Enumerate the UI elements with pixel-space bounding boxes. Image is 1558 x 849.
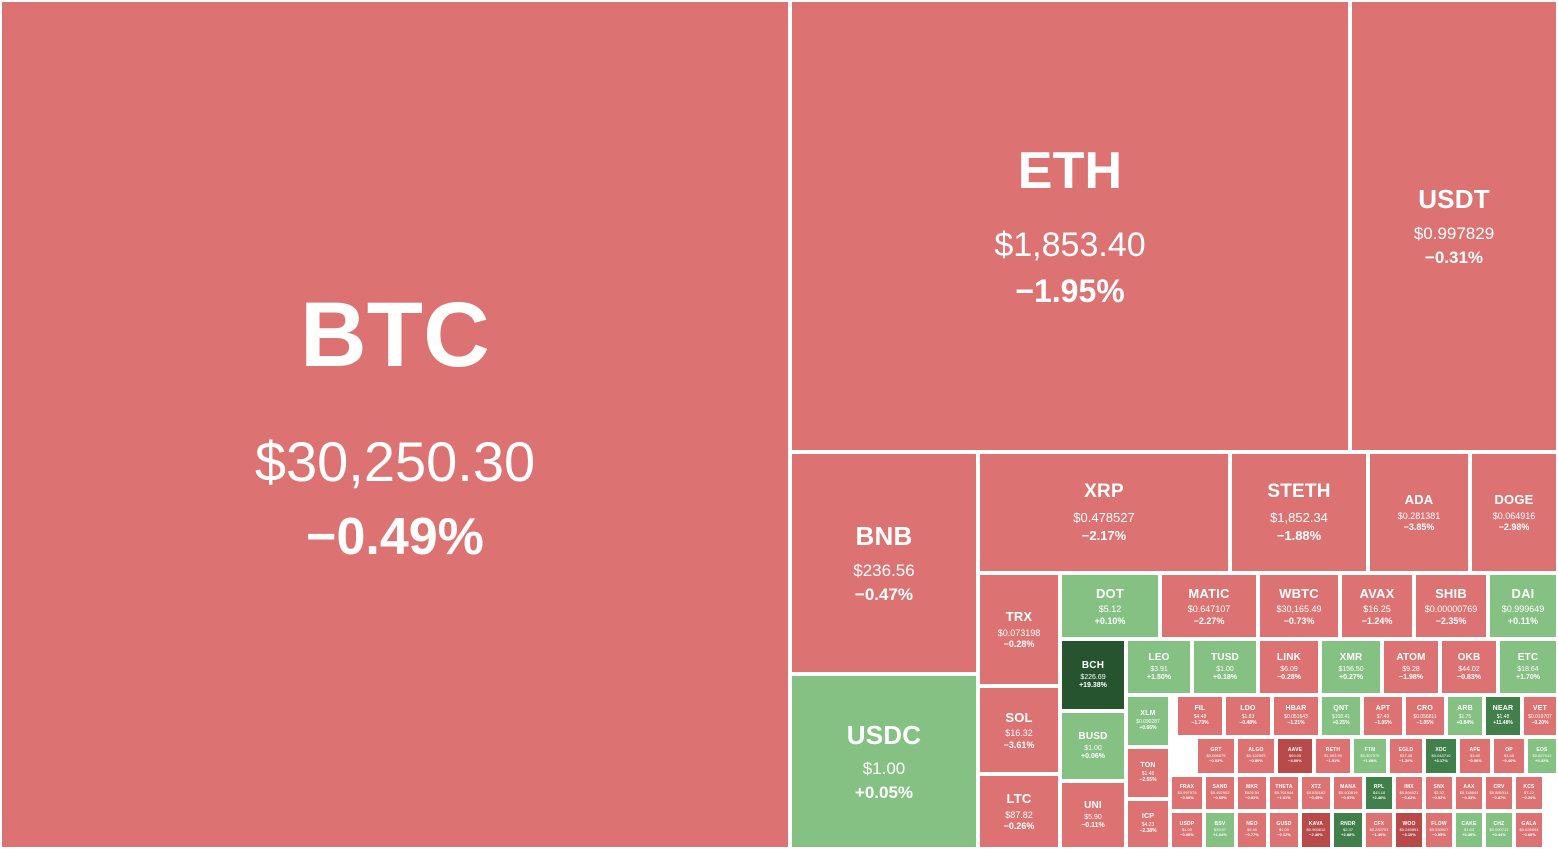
treemap-tile-steth[interactable]: STETH$1,852.34−1.88% <box>1230 452 1368 573</box>
tile-change: −2.98% <box>1499 522 1530 533</box>
tile-symbol: DAI <box>1512 586 1535 601</box>
tile-price: $1.00 <box>1084 745 1102 753</box>
tile-symbol: LTC <box>1007 791 1032 806</box>
tile-change: −0.05% <box>1180 833 1194 838</box>
tile-change: −0.96% <box>1468 759 1482 764</box>
tile-symbol: LEO <box>1148 652 1169 664</box>
treemap-tile-theta[interactable]: THETA$0.761944−1.01% <box>1268 775 1300 811</box>
tile-change: +0.84% <box>1456 721 1473 727</box>
tile-change: −2.27% <box>1194 616 1225 627</box>
treemap-tile-vet[interactable]: VET$0.019707−0.20% <box>1522 695 1558 737</box>
treemap-tile-hbar[interactable]: HBAR$0.051643−1.21% <box>1272 695 1320 737</box>
tile-symbol: DOGE <box>1494 492 1533 507</box>
tile-change: −1.01% <box>1277 796 1291 801</box>
treemap-tile-flow[interactable]: FLOW$0.533927−0.55% <box>1424 811 1454 849</box>
tile-change: −0.51% <box>1245 796 1259 801</box>
crypto-treemap: BTC$30,250.30−0.49%ETH$1,853.40−1.95%USD… <box>0 0 1558 849</box>
treemap-tile-xlm[interactable]: XLM$0.090287+0.66% <box>1126 695 1170 747</box>
tile-price: $0.00000769 <box>1425 604 1478 615</box>
treemap-tile-cro[interactable]: CRO$0.056811−1.05% <box>1404 695 1446 737</box>
treemap-tile-aax[interactable]: AAX$0.118644−0.33% <box>1454 775 1484 811</box>
tile-change: +0.10% <box>1095 616 1126 627</box>
tile-change: −0.92% <box>1432 796 1446 801</box>
treemap-tile-near[interactable]: NEAR$1.48+11.48% <box>1484 695 1522 737</box>
tile-change: −0.68% <box>1522 833 1536 838</box>
tile-change: +0.39% <box>1462 833 1476 838</box>
treemap-tile-crv[interactable]: CRV$0.885314−0.87% <box>1484 775 1514 811</box>
tile-price: $0.281381 <box>1398 511 1441 522</box>
tile-symbol: BTC <box>300 281 490 390</box>
treemap-tile-doge[interactable]: DOGE$0.064916−2.98% <box>1470 452 1558 573</box>
treemap-tile-gusd[interactable]: GUSD$1.00−0.12% <box>1268 811 1300 849</box>
tile-symbol: WBTC <box>1279 586 1319 601</box>
tile-symbol: ICP <box>1142 813 1154 821</box>
treemap-tile-ada[interactable]: ADA$0.281381−3.85% <box>1368 452 1470 573</box>
tile-price: $0.647107 <box>1188 604 1231 615</box>
tile-price: $5.12 <box>1099 604 1122 615</box>
treemap-tile-bnb[interactable]: BNB$236.56−0.47% <box>790 452 978 674</box>
treemap-tile-cake[interactable]: CAKE$1.63+0.39% <box>1454 811 1484 849</box>
tile-price: $226.69 <box>1080 674 1105 682</box>
tile-change: −2.17% <box>1082 528 1126 543</box>
tile-price: $30,250.30 <box>255 429 535 495</box>
tile-change: +1.70% <box>1516 674 1540 682</box>
tile-change: −3.61% <box>1004 740 1035 751</box>
tile-change: −0.49% <box>306 507 484 568</box>
tile-change: −0.83% <box>1457 674 1481 682</box>
tile-change: −1.40% <box>1372 833 1386 838</box>
tile-symbol: SHIB <box>1435 586 1467 601</box>
tile-symbol: USDC <box>847 720 921 751</box>
tile-change: −1.20% <box>1399 759 1413 764</box>
treemap-tile-busd[interactable]: BUSD$1.00+0.06% <box>1060 711 1126 781</box>
tile-change: −0.33% <box>1462 796 1476 801</box>
tile-change: −0.28% <box>1277 674 1301 682</box>
treemap-tile-trx[interactable]: TRX$0.073198−0.28% <box>978 573 1060 686</box>
tile-change: −2.30% <box>1309 833 1323 838</box>
treemap-tile-okb[interactable]: OKB$44.02−0.83% <box>1440 639 1498 695</box>
treemap-tile-apt[interactable]: APT$7.49−1.05% <box>1362 695 1404 737</box>
tile-change: +3.17% <box>1434 759 1448 764</box>
treemap-tile-usdp[interactable]: USDP$1.00−0.05% <box>1170 811 1204 849</box>
treemap-tile-btc[interactable]: BTC$30,250.30−0.49% <box>0 0 790 849</box>
tile-change: +2.46% <box>1372 796 1386 801</box>
treemap-tile-wbtc[interactable]: WBTC$30,165.49−0.73% <box>1258 573 1340 639</box>
treemap-tile-cfx[interactable]: CFX$0.233701−1.40% <box>1364 811 1394 849</box>
tile-change: −0.87% <box>1492 796 1506 801</box>
tile-symbol: UNI <box>1084 800 1102 812</box>
tile-price: $0.997829 <box>1414 224 1494 244</box>
tile-change: −2.38% <box>1139 829 1156 835</box>
treemap-tile-xmr[interactable]: XMR$156.50+0.27% <box>1320 639 1382 695</box>
tile-change: −0.26% <box>1004 821 1035 832</box>
tile-symbol: STETH <box>1267 481 1330 503</box>
treemap-tile-dot[interactable]: DOT$5.12+0.10% <box>1060 573 1160 639</box>
tile-change: +1.08% <box>1363 759 1377 764</box>
tile-change: −3.10% <box>1402 833 1416 838</box>
tile-price: $3.91 <box>1150 666 1168 674</box>
tile-symbol: APT <box>1376 705 1391 713</box>
treemap-tile-mana[interactable]: MANA$0.400519−0.91% <box>1332 775 1364 811</box>
tile-price: $5.90 <box>1084 814 1102 822</box>
treemap-tile-woo[interactable]: WOO$0.249891−3.10% <box>1394 811 1424 849</box>
tile-change: +0.44% <box>1492 833 1506 838</box>
tile-symbol: ETC <box>1518 652 1539 664</box>
tile-change: −0.24% <box>1522 796 1536 801</box>
tile-change: −0.31% <box>1425 248 1483 268</box>
treemap-tile-snx[interactable]: SNX$2.32−0.92% <box>1424 775 1454 811</box>
tile-change: −0.77% <box>1245 833 1259 838</box>
tile-change: −0.11% <box>1081 822 1105 830</box>
tile-symbol: MATIC <box>1188 586 1229 601</box>
tile-change: +0.06% <box>1081 753 1105 761</box>
tile-symbol: BUSD <box>1078 731 1107 743</box>
tile-change: −0.62% <box>1402 796 1416 801</box>
tile-change: −1.73% <box>1191 721 1208 727</box>
treemap-tile-frax[interactable]: FRAX$0.997575−0.08% <box>1170 775 1204 811</box>
treemap-tile-chz[interactable]: CHZ$0.090712+0.44% <box>1484 811 1514 849</box>
tile-price: $1,852.34 <box>1270 510 1328 525</box>
tile-change: +0.11% <box>1508 616 1538 627</box>
tile-change: +0.25% <box>1332 721 1349 727</box>
tile-price: $0.073198 <box>998 628 1041 639</box>
treemap-tile-rndr[interactable]: RNDR$2.37+2.88% <box>1332 811 1364 849</box>
tile-symbol: OKB <box>1458 652 1481 664</box>
treemap-tile-aave[interactable]: AAVE$69.05−4.00% <box>1276 737 1314 775</box>
treemap-tile-ton[interactable]: TON$1.46−2.55% <box>1126 747 1170 799</box>
treemap-tile-dai[interactable]: DAI$0.999649+0.11% <box>1488 573 1558 639</box>
tile-change: −4.00% <box>1288 759 1302 764</box>
tile-change: −1.24% <box>1362 616 1393 627</box>
treemap-tile-ldo[interactable]: LDO$1.83−0.48% <box>1224 695 1272 737</box>
tile-change: −0.48% <box>1239 721 1256 727</box>
treemap-tile-xtz[interactable]: XTZ$0.835162−0.45% <box>1300 775 1332 811</box>
treemap-tile-grt[interactable]: GRT$0.099879−0.03% <box>1196 737 1236 775</box>
treemap-tile-kava[interactable]: KAVA$0.963612−2.30% <box>1300 811 1332 849</box>
tile-price: $18.64 <box>1517 666 1538 674</box>
tile-change: +1.50% <box>1147 674 1171 682</box>
tile-price: $156.50 <box>1338 666 1363 674</box>
tile-change: +0.18% <box>1213 674 1237 682</box>
tile-change: +2.88% <box>1341 833 1355 838</box>
treemap-tile-op[interactable]: OP$1.48−0.46% <box>1492 737 1526 775</box>
tile-change: −0.20% <box>1531 721 1548 727</box>
tile-change: −0.46% <box>1502 759 1516 764</box>
treemap-tile-ape[interactable]: APE$3.40−0.96% <box>1458 737 1492 775</box>
tile-price: $87.82 <box>1005 810 1033 821</box>
treemap-tile-egld[interactable]: EGLD$37.48−1.20% <box>1388 737 1424 775</box>
tile-change: −0.80% <box>1249 759 1263 764</box>
treemap-tile-tusd[interactable]: TUSD$1.00+0.18% <box>1192 639 1258 695</box>
treemap-tile-xrp[interactable]: XRP$0.478527−2.17% <box>978 452 1230 573</box>
tile-price: $9.28 <box>1402 666 1420 674</box>
tile-symbol: USDT <box>1418 184 1490 215</box>
tile-price: $30,165.49 <box>1276 604 1321 615</box>
tile-change: +0.05% <box>855 783 913 803</box>
tile-symbol: NEAR <box>1493 705 1514 713</box>
treemap-tile-bch[interactable]: BCH$226.69+19.38% <box>1060 639 1126 711</box>
treemap-tile-matic[interactable]: MATIC$0.647107−2.27% <box>1160 573 1258 639</box>
treemap-tile-link[interactable]: LINK$6.09−0.28% <box>1258 639 1320 695</box>
tile-symbol: TRX <box>1006 609 1033 624</box>
tile-symbol: XLM <box>1140 710 1155 718</box>
tile-price: $1.00 <box>863 759 906 779</box>
tile-symbol: LDO <box>1240 705 1255 713</box>
tile-price: $0.478527 <box>1073 510 1134 525</box>
treemap-tile-eos[interactable]: EOS$0.827912+0.32% <box>1526 737 1558 775</box>
tile-price: $1,853.40 <box>994 225 1145 265</box>
tile-change: −0.47% <box>855 585 913 605</box>
treemap-tile-uni[interactable]: UNI$5.90−0.11% <box>1060 781 1126 849</box>
tile-change: +0.27% <box>1339 674 1363 682</box>
treemap-tile-shib[interactable]: SHIB$0.00000769−2.35% <box>1414 573 1488 639</box>
tile-price: $6.09 <box>1280 666 1298 674</box>
tile-change: −0.28% <box>1004 639 1035 650</box>
tile-symbol: ARB <box>1457 705 1473 713</box>
treemap-tile-rpl[interactable]: RPL$43.18+2.46% <box>1364 775 1394 811</box>
treemap-tile-atom[interactable]: ATOM$9.28−1.98% <box>1382 639 1440 695</box>
tile-change: −3.85% <box>1404 522 1435 533</box>
tile-symbol: CRO <box>1417 705 1433 713</box>
tile-change: −0.91% <box>1341 796 1355 801</box>
tile-change: −1.05% <box>1374 721 1391 727</box>
tile-price: $16.25 <box>1363 604 1391 615</box>
treemap-tile-gala[interactable]: GALA$0.026694−0.68% <box>1514 811 1544 849</box>
treemap-tile-etc[interactable]: ETC$18.64+1.70% <box>1498 639 1558 695</box>
tile-symbol: TUSD <box>1211 652 1239 664</box>
treemap-tile-xdc[interactable]: XDC$0.043710+3.17% <box>1424 737 1458 775</box>
tile-symbol: SOL <box>1005 710 1032 725</box>
treemap-tile-usdc[interactable]: USDC$1.00+0.05% <box>790 674 978 849</box>
tile-change: −0.55% <box>1432 833 1446 838</box>
tile-symbol: HBAR <box>1285 705 1306 713</box>
tile-symbol: XRP <box>1084 481 1124 503</box>
treemap-tile-algo[interactable]: ALGO$0.122905−0.80% <box>1236 737 1276 775</box>
tile-change: −1.95% <box>1015 273 1124 311</box>
treemap-tile-mkr[interactable]: MKR$926.54−0.51% <box>1236 775 1268 811</box>
tile-change: −1.88% <box>1277 528 1321 543</box>
treemap-tile-arb[interactable]: ARB$1.75+0.84% <box>1446 695 1484 737</box>
tile-price: $0.064916 <box>1493 511 1536 522</box>
treemap-tile-avax[interactable]: AVAX$16.25−1.24% <box>1340 573 1414 639</box>
tile-change: −2.35% <box>1436 616 1467 627</box>
treemap-tile-usdt[interactable]: USDT$0.997829−0.31% <box>1350 0 1558 452</box>
treemap-tile-eth[interactable]: ETH$1,853.40−1.95% <box>790 0 1350 452</box>
treemap-tile-icp[interactable]: ICP$4.23−2.38% <box>1126 799 1170 849</box>
tile-symbol: BNB <box>856 521 913 552</box>
tile-change: −2.55% <box>1139 778 1156 784</box>
treemap-tile-kcs[interactable]: KCS$7.22−0.24% <box>1514 775 1544 811</box>
tile-symbol: QNT <box>1333 705 1348 713</box>
tile-change: −1.05% <box>1416 721 1433 727</box>
tile-symbol: AVAX <box>1360 586 1395 601</box>
treemap-tile-ftm[interactable]: FTM$0.307975+1.08% <box>1352 737 1388 775</box>
tile-change: +0.32% <box>1535 759 1549 764</box>
tile-symbol: BCH <box>1082 660 1104 672</box>
tile-change: +0.66% <box>1139 726 1156 732</box>
treemap-tile-sol[interactable]: SOL$16.32−3.61% <box>978 686 1060 774</box>
tile-symbol: LINK <box>1277 652 1301 664</box>
tile-price: $16.32 <box>1005 728 1033 739</box>
treemap-tile-qnt[interactable]: QNT$108.41+0.25% <box>1320 695 1362 737</box>
treemap-tile-fil[interactable]: FIL$4.48−1.73% <box>1176 695 1224 737</box>
tile-change: −0.65% <box>1213 796 1227 801</box>
tile-change: −0.45% <box>1309 796 1323 801</box>
treemap-tile-ltc[interactable]: LTC$87.82−0.26% <box>978 774 1060 849</box>
tile-change: −0.03% <box>1209 759 1223 764</box>
tile-change: −1.91% <box>1326 759 1340 764</box>
tile-symbol: VET <box>1533 705 1547 713</box>
tile-change: −0.12% <box>1277 833 1291 838</box>
tile-price: $44.02 <box>1458 666 1479 674</box>
tile-symbol: TON <box>1140 762 1155 770</box>
tile-change: +11.48% <box>1493 721 1513 727</box>
tile-symbol: ETH <box>1018 141 1123 202</box>
tile-symbol: XMR <box>1340 652 1363 664</box>
tile-change: +19.38% <box>1079 682 1107 690</box>
tile-change: −0.73% <box>1284 616 1315 627</box>
tile-symbol: DOT <box>1096 586 1124 601</box>
treemap-tile-bsv[interactable]: BSV$39.07+1.04% <box>1204 811 1236 849</box>
treemap-tile-leo[interactable]: LEO$3.91+1.50% <box>1126 639 1192 695</box>
treemap-tile-neo[interactable]: NEO$9.49−0.77% <box>1236 811 1268 849</box>
tile-change: +1.04% <box>1213 833 1227 838</box>
treemap-tile-sand[interactable]: SAND$0.462902−0.65% <box>1204 775 1236 811</box>
tile-symbol: ADA <box>1405 492 1434 507</box>
tile-symbol: FIL <box>1194 705 1205 713</box>
treemap-tile-reth[interactable]: RETH$1,993.99−1.91% <box>1314 737 1352 775</box>
tile-price: $1.00 <box>1216 666 1234 674</box>
treemap-tile-imx[interactable]: IMX$0.894021−0.62% <box>1394 775 1424 811</box>
tile-change: −1.98% <box>1399 674 1423 682</box>
tile-price: $0.999649 <box>1502 604 1545 615</box>
tile-price: $236.56 <box>853 561 914 581</box>
tile-change: −1.21% <box>1287 721 1304 727</box>
tile-change: −0.08% <box>1180 796 1194 801</box>
tile-symbol: ATOM <box>1396 652 1425 664</box>
